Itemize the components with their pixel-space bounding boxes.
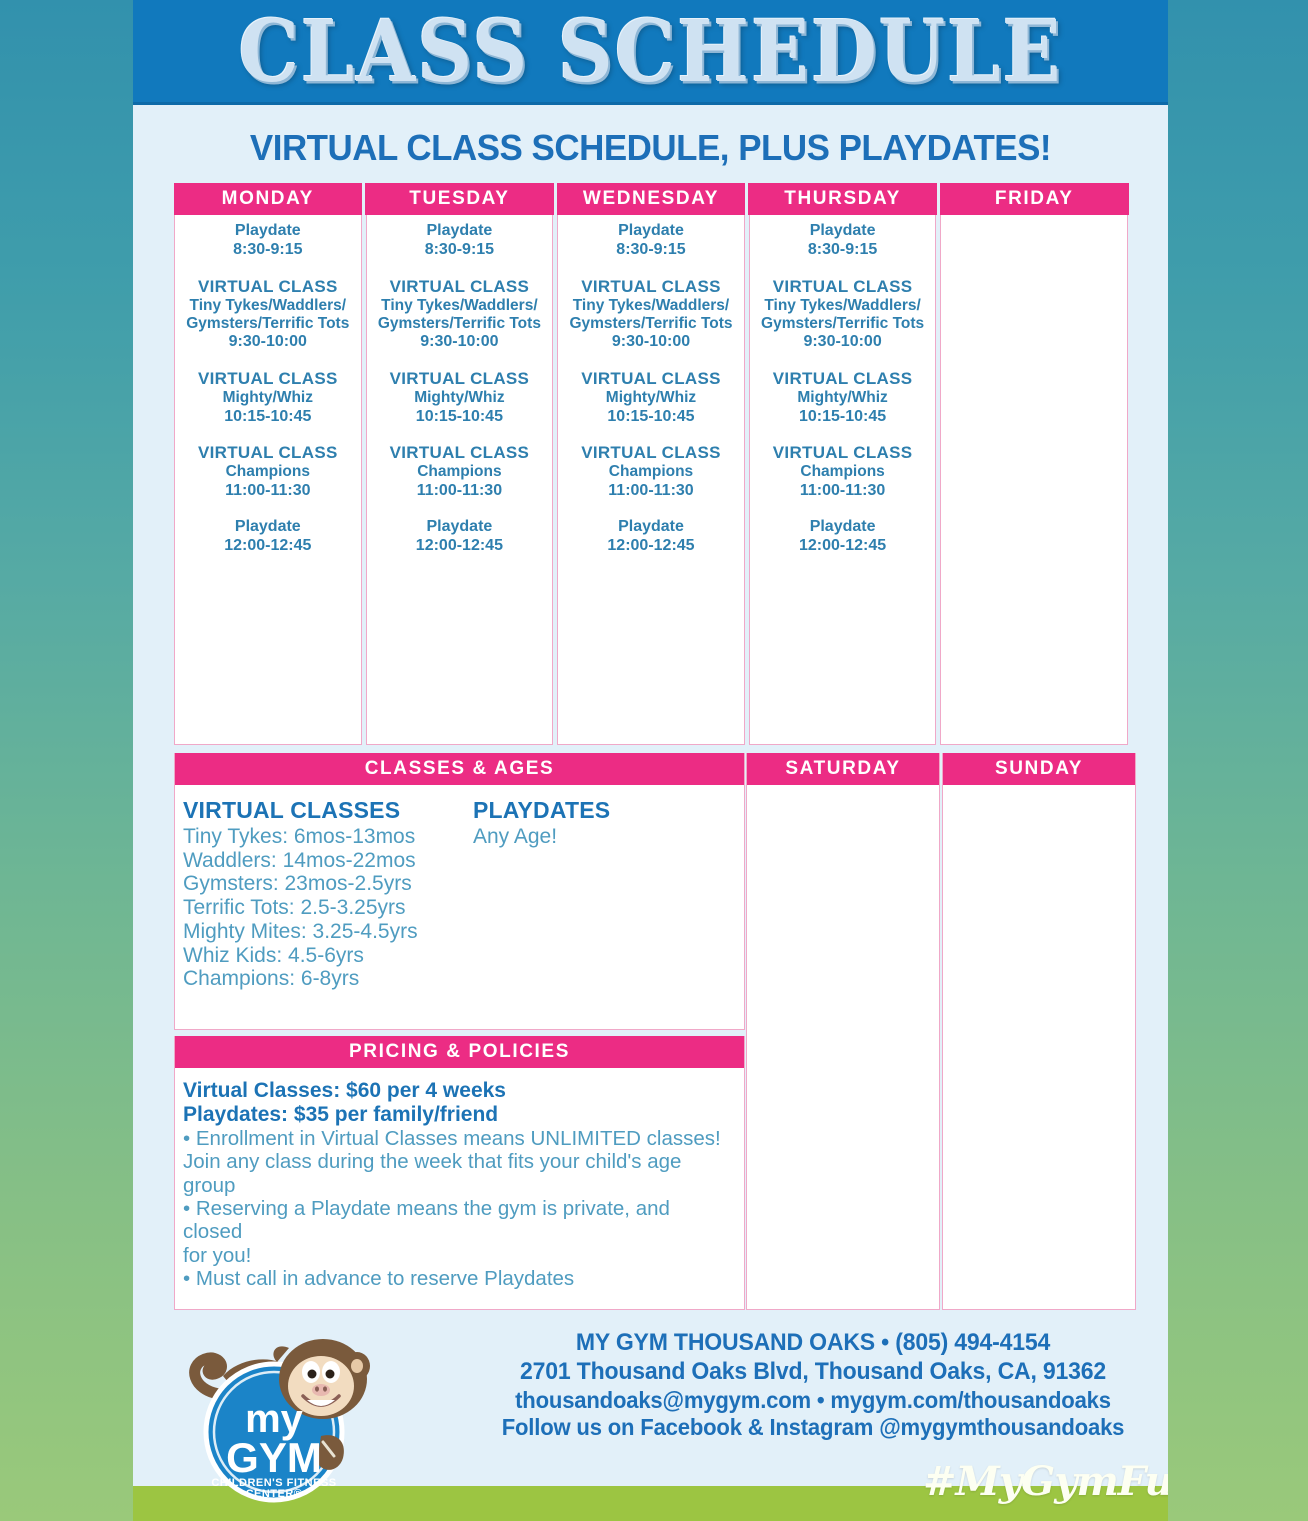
- slot-name: Mighty/Whiz: [754, 389, 932, 407]
- slot-name: Mighty/Whiz: [179, 389, 357, 407]
- sunday-header: SUNDAY: [943, 753, 1135, 785]
- saturday-header: SATURDAY: [747, 753, 939, 785]
- page-subtitle: VIRTUAL CLASS SCHEDULE, PLUS PLAYDATES!: [149, 105, 1153, 183]
- slot-name: Tiny Tykes/Waddlers/: [371, 297, 549, 315]
- schedule-slot: VIRTUAL CLASSTiny Tykes/Waddlers/Gymster…: [754, 277, 932, 352]
- slot-time: 10:15-10:45: [371, 408, 549, 427]
- saturday-column: SATURDAY: [746, 753, 940, 1310]
- mygym-logo: my GYM CHILDREN'S FITNESS CENTER®: [171, 1332, 376, 1517]
- schedule-slot: VIRTUAL CLASSChampions11:00-11:30: [754, 443, 932, 500]
- slot-title: VIRTUAL CLASS: [371, 277, 549, 297]
- schedule-slot: VIRTUAL CLASSMighty/Whiz10:15-10:45: [371, 369, 549, 426]
- slot-name: Playdate: [754, 222, 932, 241]
- schedule-slot: Playdate8:30-9:15: [562, 222, 740, 260]
- schedule-slot: VIRTUAL CLASSChampions11:00-11:30: [371, 443, 549, 500]
- weekday-schedule-grid: MONDAYPlaydate8:30-9:15VIRTUAL CLASSTiny…: [174, 183, 1128, 745]
- slot-time: 8:30-9:15: [754, 241, 932, 260]
- slot-name: Tiny Tykes/Waddlers/: [754, 297, 932, 315]
- slot-name: Mighty/Whiz: [371, 389, 549, 407]
- slot-time: 8:30-9:15: [179, 241, 357, 260]
- schedule-slot: VIRTUAL CLASSTiny Tykes/Waddlers/Gymster…: [371, 277, 549, 352]
- slot-title: VIRTUAL CLASS: [371, 369, 549, 389]
- class-age-line: Waddlers: 14mos-22mos: [183, 849, 473, 873]
- slot-name: Tiny Tykes/Waddlers/: [562, 297, 740, 315]
- schedule-slot: Playdate12:00-12:45: [371, 518, 549, 556]
- slot-time: 10:15-10:45: [754, 408, 932, 427]
- day-column-wednesday: WEDNESDAYPlaydate8:30-9:15VIRTUAL CLASST…: [557, 183, 745, 745]
- policy-line: • Must call in advance to reserve Playda…: [183, 1267, 734, 1290]
- day-header-tuesday: TUESDAY: [365, 183, 554, 215]
- classes-ages-header: CLASSES & AGES: [175, 753, 744, 785]
- day-body: Playdate8:30-9:15VIRTUAL CLASSTiny Tykes…: [750, 215, 936, 744]
- schedule-slot: Playdate12:00-12:45: [179, 518, 357, 556]
- slot-time: 10:15-10:45: [179, 408, 357, 427]
- day-column-tuesday: TUESDAYPlaydate8:30-9:15VIRTUAL CLASSTin…: [366, 183, 554, 745]
- day-column-friday: FRIDAY: [940, 183, 1128, 745]
- slot-title: VIRTUAL CLASS: [562, 443, 740, 463]
- schedule-slot: VIRTUAL CLASSChampions11:00-11:30: [179, 443, 357, 500]
- slot-time: 12:00-12:45: [179, 537, 357, 556]
- virtual-classes-title: VIRTUAL CLASSES: [183, 797, 473, 824]
- day-column-monday: MONDAYPlaydate8:30-9:15VIRTUAL CLASSTiny…: [174, 183, 362, 745]
- mygym-logo-svg: my GYM CHILDREN'S FITNESS CENTER®: [171, 1332, 376, 1517]
- playdates-column: PLAYDATES Any Age!: [473, 797, 744, 991]
- slot-time: 9:30-10:00: [371, 333, 549, 352]
- slot-name: Playdate: [179, 518, 357, 537]
- slot-name: Playdate: [371, 222, 549, 241]
- slot-title: VIRTUAL CLASS: [179, 277, 357, 297]
- slot-time: 10:15-10:45: [562, 408, 740, 427]
- playdate-age-line: Any Age!: [473, 825, 744, 849]
- day-header-wednesday: WEDNESDAY: [557, 183, 746, 215]
- slot-title: VIRTUAL CLASS: [179, 443, 357, 463]
- class-age-line: Whiz Kids: 4.5-6yrs: [183, 944, 473, 968]
- day-body: [941, 215, 1127, 744]
- slot-name: Champions: [179, 463, 357, 481]
- playdates-title: PLAYDATES: [473, 797, 744, 824]
- title-band: CLASS SCHEDULE: [133, 0, 1168, 105]
- schedule-slot: Playdate12:00-12:45: [562, 518, 740, 556]
- policy-line: for you!: [183, 1244, 734, 1267]
- slot-name: Champions: [562, 463, 740, 481]
- pricing-policies-header: PRICING & POLICIES: [175, 1036, 744, 1068]
- schedule-slot: Playdate8:30-9:15: [179, 222, 357, 260]
- slot-title: VIRTUAL CLASS: [754, 369, 932, 389]
- class-age-line: Gymsters: 23mos-2.5yrs: [183, 872, 473, 896]
- schedule-slot: VIRTUAL CLASSMighty/Whiz10:15-10:45: [179, 369, 357, 426]
- footer-contact-info: MY GYM THOUSAND OAKS • (805) 494-4154 27…: [463, 1329, 1163, 1442]
- slot-time: 11:00-11:30: [371, 482, 549, 501]
- footer-line-email-web: thousandoaks@mygym.com • mygym.com/thous…: [477, 1387, 1149, 1415]
- slot-time: 9:30-10:00: [754, 333, 932, 352]
- sunday-column: SUNDAY: [942, 753, 1136, 1310]
- slot-name: Playdate: [562, 518, 740, 537]
- hashtag-mygymfun: #MyGymFun: [923, 1458, 1168, 1505]
- slot-time: 11:00-11:30: [754, 482, 932, 501]
- logo-line2: GYM: [226, 1434, 322, 1481]
- day-header-thursday: THURSDAY: [748, 183, 937, 215]
- poster-sheet: CLASS SCHEDULE VIRTUAL CLASS SCHEDULE, P…: [133, 0, 1168, 1521]
- slot-time: 12:00-12:45: [371, 537, 549, 556]
- virtual-classes-column: VIRTUAL CLASSES Tiny Tykes: 6mos-13mosWa…: [183, 797, 473, 991]
- footer-line-social: Follow us on Facebook & Instagram @mygym…: [477, 1414, 1149, 1442]
- slot-time: 11:00-11:30: [562, 482, 740, 501]
- slot-time: 9:30-10:00: [562, 333, 740, 352]
- day-header-monday: MONDAY: [174, 183, 363, 215]
- day-body: Playdate8:30-9:15VIRTUAL CLASSTiny Tykes…: [175, 215, 361, 744]
- slot-name: Gymsters/Terrific Tots: [371, 315, 549, 333]
- slot-title: VIRTUAL CLASS: [754, 277, 932, 297]
- slot-name: Playdate: [371, 518, 549, 537]
- slot-name: Champions: [371, 463, 549, 481]
- slot-title: VIRTUAL CLASS: [754, 443, 932, 463]
- class-age-line: Mighty Mites: 3.25-4.5yrs: [183, 920, 473, 944]
- pricing-line: Playdates: $35 per family/friend: [183, 1103, 734, 1127]
- slot-title: VIRTUAL CLASS: [179, 369, 357, 389]
- slot-name: Tiny Tykes/Waddlers/: [179, 297, 357, 315]
- slot-title: VIRTUAL CLASS: [562, 369, 740, 389]
- slot-title: VIRTUAL CLASS: [562, 277, 740, 297]
- day-body: Playdate8:30-9:15VIRTUAL CLASSTiny Tykes…: [367, 215, 553, 744]
- schedule-slot: Playdate12:00-12:45: [754, 518, 932, 556]
- classes-and-ages-box: CLASSES & AGES VIRTUAL CLASSES Tiny Tyke…: [174, 753, 745, 1030]
- slot-name: Champions: [754, 463, 932, 481]
- slot-name: Gymsters/Terrific Tots: [562, 315, 740, 333]
- schedule-slot: VIRTUAL CLASSTiny Tykes/Waddlers/Gymster…: [179, 277, 357, 352]
- slot-name: Playdate: [562, 222, 740, 241]
- slot-name: Mighty/Whiz: [562, 389, 740, 407]
- policy-line: • Reserving a Playdate means the gym is …: [183, 1197, 734, 1244]
- day-header-friday: FRIDAY: [940, 183, 1129, 215]
- slot-name: Playdate: [754, 518, 932, 537]
- slot-time: 12:00-12:45: [562, 537, 740, 556]
- slot-name: Playdate: [179, 222, 357, 241]
- slot-time: 9:30-10:00: [179, 333, 357, 352]
- policy-line: • Enrollment in Virtual Classes means UN…: [183, 1127, 734, 1150]
- class-age-line: Terrific Tots: 2.5-3.25yrs: [183, 896, 473, 920]
- footer-line-address: 2701 Thousand Oaks Blvd, Thousand Oaks, …: [477, 1358, 1149, 1387]
- slot-time: 12:00-12:45: [754, 537, 932, 556]
- schedule-slot: Playdate8:30-9:15: [371, 222, 549, 260]
- slot-time: 11:00-11:30: [179, 482, 357, 501]
- class-age-line: Champions: 6-8yrs: [183, 967, 473, 991]
- slot-time: 8:30-9:15: [371, 241, 549, 260]
- schedule-slot: Playdate8:30-9:15: [754, 222, 932, 260]
- policy-line: Join any class during the week that fits…: [183, 1150, 734, 1197]
- page-title: CLASS SCHEDULE: [238, 1, 1062, 101]
- pricing-and-policies-box: PRICING & POLICIES Virtual Classes: $60 …: [174, 1036, 745, 1310]
- footer-line-name-phone: MY GYM THOUSAND OAKS • (805) 494-4154: [477, 1329, 1149, 1358]
- slot-name: Gymsters/Terrific Tots: [179, 315, 357, 333]
- pricing-line: Virtual Classes: $60 per 4 weeks: [183, 1079, 734, 1103]
- slot-time: 8:30-9:15: [562, 241, 740, 260]
- schedule-slot: VIRTUAL CLASSChampions11:00-11:30: [562, 443, 740, 500]
- schedule-slot: VIRTUAL CLASSTiny Tykes/Waddlers/Gymster…: [562, 277, 740, 352]
- schedule-slot: VIRTUAL CLASSMighty/Whiz10:15-10:45: [562, 369, 740, 426]
- schedule-slot: VIRTUAL CLASSMighty/Whiz10:15-10:45: [754, 369, 932, 426]
- slot-name: Gymsters/Terrific Tots: [754, 315, 932, 333]
- class-age-line: Tiny Tykes: 6mos-13mos: [183, 825, 473, 849]
- day-body: Playdate8:30-9:15VIRTUAL CLASSTiny Tykes…: [558, 215, 744, 744]
- slot-title: VIRTUAL CLASS: [371, 443, 549, 463]
- day-column-thursday: THURSDAYPlaydate8:30-9:15VIRTUAL CLASSTi…: [749, 183, 937, 745]
- logo-tagline2: CENTER®: [246, 1488, 303, 1500]
